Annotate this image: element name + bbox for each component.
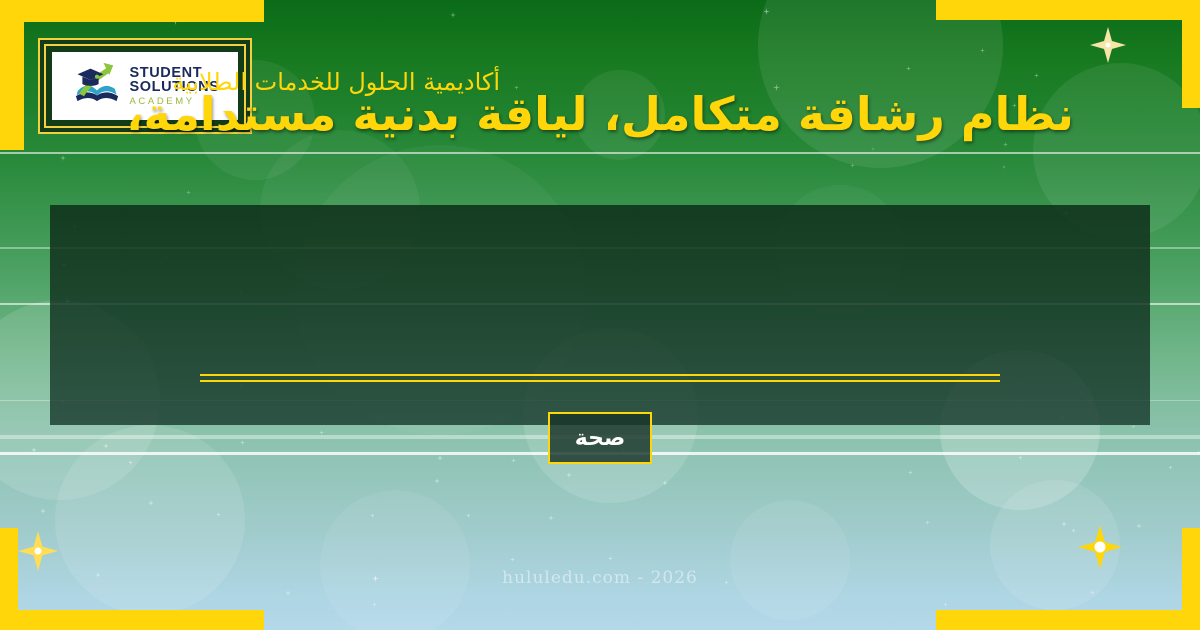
sparkle-dot-icon bbox=[186, 190, 191, 195]
sparkle-dot-icon bbox=[1168, 465, 1173, 470]
background-circle bbox=[990, 480, 1120, 610]
page-title: نظام رشاقة متكامل، لياقة بدنية مستدامة، bbox=[0, 88, 1200, 141]
sparkle-dot-icon bbox=[1136, 523, 1142, 529]
sparkle-star-top-right bbox=[1090, 27, 1126, 63]
sparkle-dot-icon bbox=[60, 155, 66, 161]
sparkle-dot-icon bbox=[12, 558, 17, 563]
category-badge[interactable]: صحة bbox=[548, 412, 652, 464]
sparkle-dot-icon bbox=[450, 12, 456, 18]
sparkle-dot-icon bbox=[548, 515, 554, 521]
sparkle-dot-icon bbox=[943, 602, 948, 607]
sparkle-dot-icon bbox=[871, 147, 875, 151]
star-shape-icon bbox=[1090, 27, 1126, 63]
star-shape-icon bbox=[18, 531, 58, 571]
background-light-line bbox=[0, 152, 1200, 154]
background-circle bbox=[320, 490, 470, 630]
sparkle-star-bottom-right bbox=[1078, 525, 1122, 569]
sparkle-dot-icon bbox=[285, 590, 291, 596]
sparkle-dot-icon bbox=[172, 18, 179, 25]
sparkle-dot-icon bbox=[216, 512, 221, 517]
sparkle-dot-icon bbox=[1061, 521, 1067, 527]
star-core-dot bbox=[1106, 43, 1111, 48]
sparkle-dot-icon bbox=[662, 480, 668, 486]
sparkle-dot-icon bbox=[1002, 165, 1006, 169]
background-circle bbox=[730, 500, 850, 620]
title-panel bbox=[50, 205, 1150, 425]
sparkle-dot-icon bbox=[1034, 73, 1039, 78]
sparkle-dot-icon bbox=[240, 440, 245, 445]
sparkle-dot-icon bbox=[1018, 455, 1023, 460]
sparkle-dot-icon bbox=[40, 508, 46, 514]
sparkle-dot-icon bbox=[31, 447, 37, 453]
sparkle-dot-icon bbox=[850, 163, 855, 168]
sparkle-dot-icon bbox=[980, 48, 985, 53]
sparkle-dot-icon bbox=[906, 66, 911, 71]
poster-canvas: STUDENT SOLUTIONS ACADEMY أكاديمية الحلو… bbox=[0, 0, 1200, 630]
sparkle-dot-icon bbox=[434, 478, 440, 484]
sparkle-dot-icon bbox=[1090, 590, 1095, 595]
sparkle-dot-icon bbox=[466, 513, 471, 518]
sparkle-dot-icon bbox=[128, 460, 133, 465]
sparkle-dot-icon bbox=[925, 520, 930, 525]
sparkle-dot-icon bbox=[1071, 528, 1076, 533]
star-core-dot bbox=[35, 548, 42, 555]
sparkle-dot-icon bbox=[608, 556, 613, 561]
title-rule-line-2 bbox=[200, 380, 1000, 382]
star-shape-icon bbox=[1078, 525, 1122, 569]
sparkle-dot-icon bbox=[1186, 598, 1191, 603]
title-underline-rule bbox=[200, 374, 1000, 382]
sparkle-dot-icon bbox=[319, 430, 324, 435]
sparkle-dot-icon bbox=[437, 455, 443, 461]
footer-watermark: hululedu.com - 2026 bbox=[0, 568, 1200, 588]
sparkle-dot-icon bbox=[370, 513, 375, 518]
sparkle-dot-icon bbox=[1003, 142, 1008, 147]
sparkle-dot-icon bbox=[511, 458, 516, 463]
sparkle-dot-icon bbox=[372, 602, 377, 607]
star-core-dot bbox=[1095, 542, 1106, 553]
sparkle-dot-icon bbox=[1196, 450, 1200, 455]
sparkle-dot-icon bbox=[510, 557, 515, 562]
background-circle bbox=[758, 0, 1003, 168]
title-rule-line-1 bbox=[200, 374, 1000, 376]
sparkle-dot-icon bbox=[148, 500, 154, 506]
sparkle-dot-icon bbox=[566, 472, 572, 478]
sparkle-dot-icon bbox=[103, 443, 109, 449]
sparkle-dot-icon bbox=[908, 470, 913, 475]
sparkle-star-bottom-left bbox=[18, 531, 58, 571]
sparkle-dot-icon bbox=[763, 8, 770, 15]
